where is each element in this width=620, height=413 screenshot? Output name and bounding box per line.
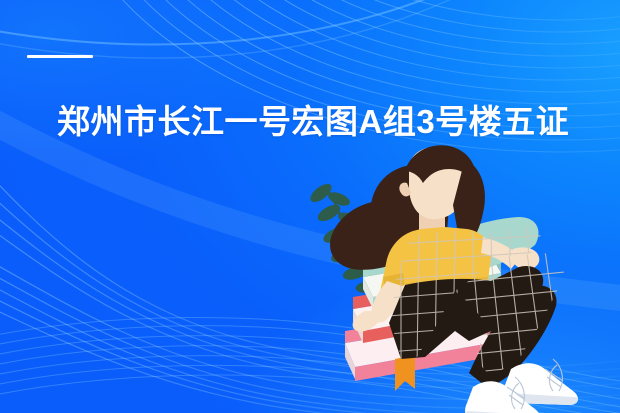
banner-headline: 郑州市长江一号宏图A组3号楼五证 [57, 101, 617, 143]
illustration-woman-on-books [305, 145, 620, 413]
bookmark-orange [395, 355, 415, 391]
promo-banner: 郑州市长江一号宏图A组3号楼五证 [0, 0, 620, 413]
accent-rule [27, 55, 93, 58]
